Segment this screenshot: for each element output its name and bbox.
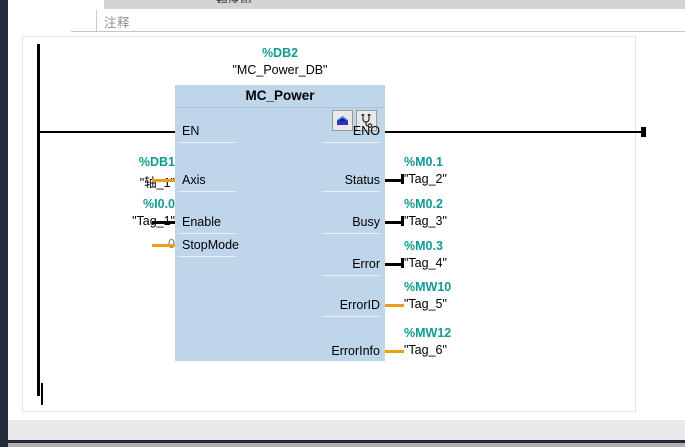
ladder-editor-window: 程序段 注释 %DB2 "MC_Power_DB" MC_Power: [0, 0, 685, 447]
output-address-status[interactable]: %M0.1: [404, 155, 443, 169]
output-address-errorid[interactable]: %MW10: [404, 280, 451, 294]
output-operand-status[interactable]: "Tag_2": [404, 172, 447, 186]
network-tab-bar[interactable]: 程序段: [104, 0, 685, 9]
param-rule-en: [178, 142, 236, 143]
param-label-enable: Enable: [182, 215, 221, 229]
param-label-en: EN: [182, 124, 199, 138]
instance-db-address: %DB2: [175, 46, 385, 60]
output-address-busy[interactable]: %M0.2: [404, 197, 443, 211]
comment-placeholder: 注释: [104, 12, 130, 31]
param-rule-errorid: [322, 316, 380, 317]
param-label-errorinfo: ErrorInfo: [331, 344, 380, 358]
param-rule-busy: [322, 233, 380, 234]
output-operand-error[interactable]: "Tag_4": [404, 256, 447, 270]
param-label-axis: Axis: [182, 173, 206, 187]
param-rule-enable: [178, 233, 236, 234]
rung-wire-right[interactable]: [385, 131, 642, 133]
input-address-enable[interactable]: %I0.0: [80, 197, 175, 211]
param-rule-error: [322, 275, 380, 276]
param-label-error: Error: [352, 257, 380, 271]
output-operand-errorid[interactable]: "Tag_5": [404, 297, 447, 311]
param-label-stopmode: StopMode: [182, 238, 239, 252]
status-bar: [8, 420, 685, 440]
param-label-status: Status: [345, 173, 380, 187]
param-rule-stopmode: [178, 256, 236, 257]
window-bottom-gap: [8, 412, 685, 420]
input-wire-enable: [152, 221, 175, 224]
input-wire-stopmode: [152, 244, 175, 247]
function-block-title-rule: [175, 107, 385, 108]
rung-wire-left[interactable]: [38, 131, 175, 133]
output-wire-errorinfo: [385, 350, 404, 353]
output-wire-errorid: [385, 304, 404, 307]
function-block-title: MC_Power: [175, 88, 385, 103]
network-tab-label: 程序段: [216, 0, 252, 3]
comment-input[interactable]: [96, 10, 677, 31]
comment-separator: [71, 31, 685, 32]
param-label-eno: ENO: [353, 124, 380, 138]
input-wire-axis: [152, 179, 175, 182]
param-rule-axis: [178, 191, 236, 192]
param-rule-status: [322, 191, 380, 192]
param-label-busy: Busy: [352, 215, 380, 229]
instance-db-icon-glyph: [335, 114, 350, 128]
param-label-errorid: ErrorID: [340, 298, 380, 312]
output-address-error[interactable]: %M0.3: [404, 239, 443, 253]
instance-db-icon[interactable]: [332, 110, 353, 131]
power-rail: [37, 44, 40, 396]
output-address-errorinfo[interactable]: %MW12: [404, 326, 451, 340]
input-address-axis[interactable]: %DB1: [80, 155, 175, 169]
editor-caret: [41, 383, 43, 405]
rung-terminator: [641, 127, 646, 137]
param-rule-eno: [322, 142, 380, 143]
instance-db-name: "MC_Power_DB": [175, 63, 385, 77]
window-bottom-gray: [8, 443, 685, 447]
output-operand-errorinfo[interactable]: "Tag_6": [404, 343, 447, 357]
output-operand-busy[interactable]: "Tag_3": [404, 214, 447, 228]
window-left-rail: [0, 0, 8, 447]
